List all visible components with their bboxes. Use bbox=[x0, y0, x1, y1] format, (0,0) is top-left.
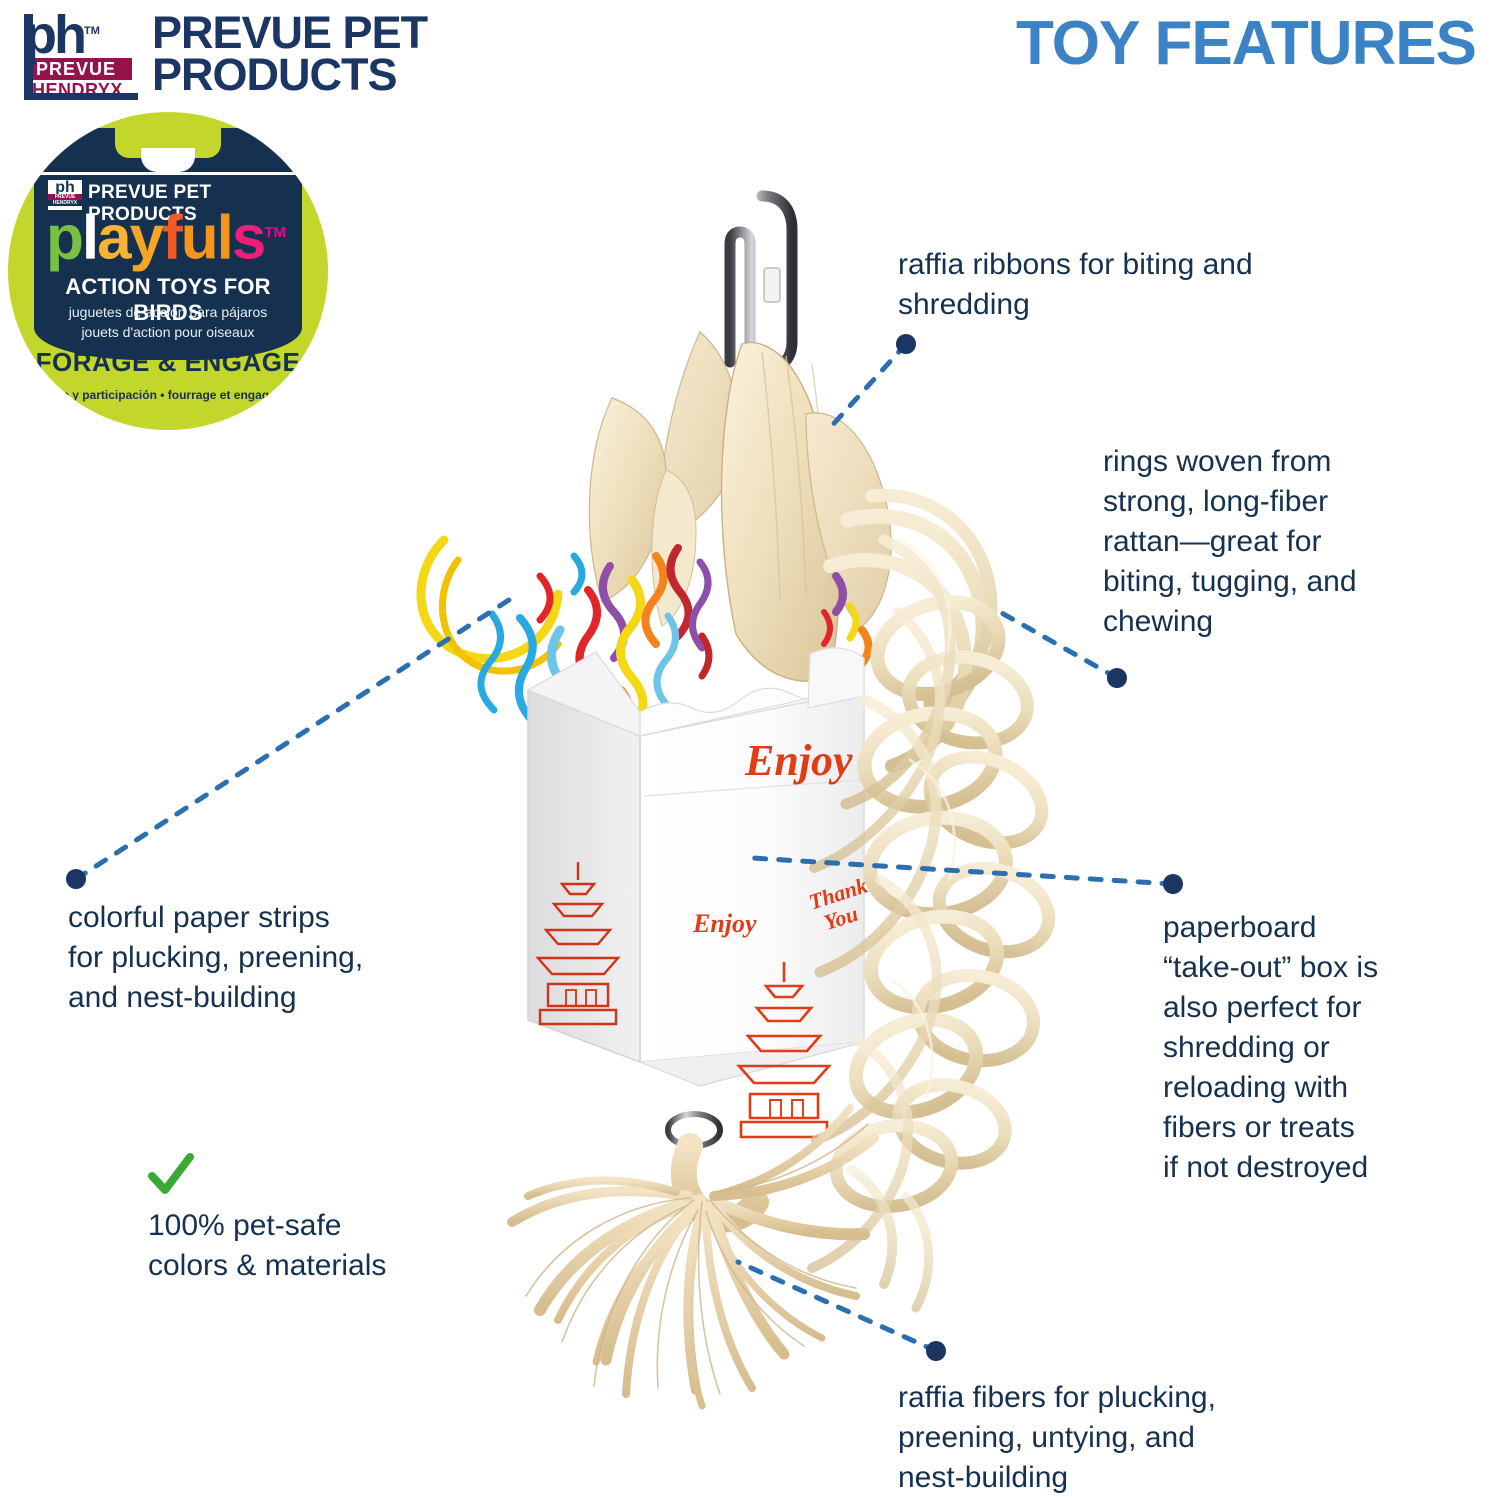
raffia-tassel bbox=[512, 1108, 874, 1406]
callout-rattan-rings: rings woven from strong, long-fiber ratt… bbox=[1103, 442, 1490, 642]
check-icon bbox=[148, 1152, 194, 1198]
hanging-clip-icon bbox=[730, 196, 792, 368]
infographic-page: phTM PREVUE HENDRYX PREVUE PET PRODUCTS … bbox=[0, 0, 1490, 1500]
box-print-enjoy-small: Enjoy bbox=[692, 909, 757, 938]
pet-safe-badge: 100% pet-safe colors & materials bbox=[148, 1152, 488, 1286]
pet-safe-text: 100% pet-safe colors & materials bbox=[148, 1206, 488, 1286]
box-print-enjoy-large: Enjoy bbox=[744, 736, 853, 785]
takeout-box: Enjoy Enjoy Thank You bbox=[528, 648, 878, 1137]
callout-paperboard: paperboard “take-out” box is also perfec… bbox=[1163, 908, 1490, 1188]
callout-raffia-fibers: raffia fibers for plucking, preening, un… bbox=[898, 1378, 1358, 1498]
callout-raffia-ribbons: raffia ribbons for biting and shredding bbox=[898, 245, 1418, 325]
callout-paper-strips: colorful paper strips for plucking, pree… bbox=[68, 898, 498, 1018]
